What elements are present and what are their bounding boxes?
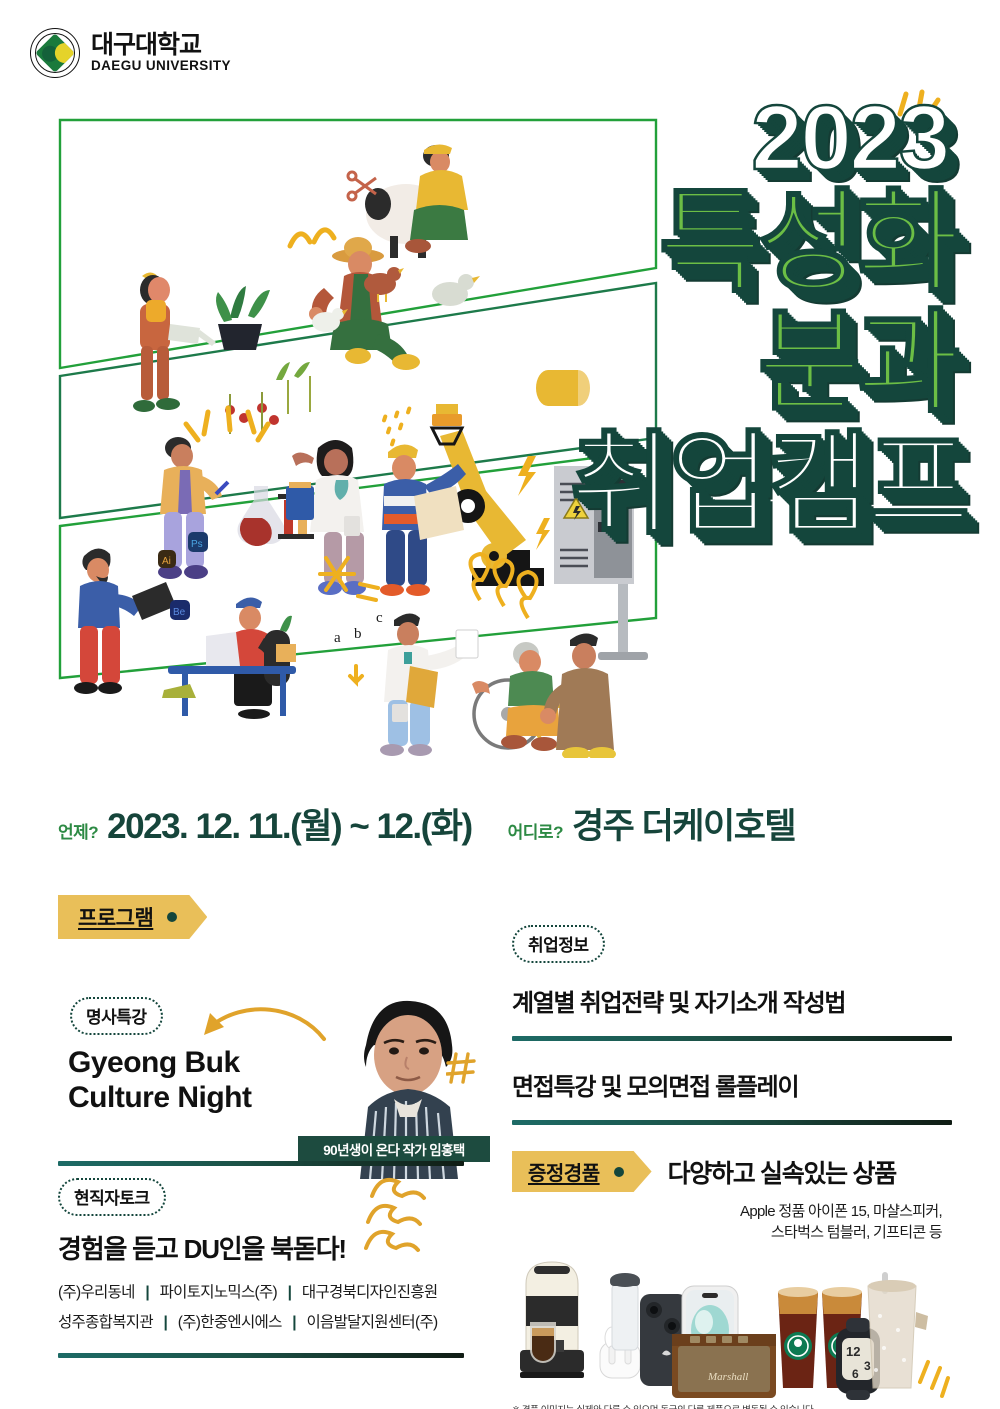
partner-5: (주)한중엔시에스 <box>178 1314 282 1331</box>
when-label: 언제? <box>58 818 98 843</box>
title-line-3: 취업캠프 <box>570 422 966 547</box>
daegu-seal-icon <box>30 28 80 78</box>
event-when-where: 언제? 2023. 12. 11.(월) ~ 12.(화) 어디로? 경주 더케… <box>58 798 958 849</box>
squiggle-icon <box>364 1170 440 1256</box>
partners-row-2: 성주종합복지관 | (주)한중엔시에스 | 이음발달지원센터(주) <box>58 1308 478 1338</box>
svg-text:a: a <box>334 630 341 646</box>
partner-sep: | <box>145 1284 149 1301</box>
prizes-tag: 증정경품 <box>512 1151 652 1192</box>
prizes-tag-label: 증정경품 <box>528 1157 600 1186</box>
where-value: 경주 더케이호텔 <box>572 798 795 849</box>
info-column: 취업정보 계열별 취업전략 및 자기소개 작성법 면접특강 및 모의면접 롤플레… <box>512 925 952 1409</box>
prize-tumbler <box>868 1272 928 1388</box>
illus-farmer-kneeling <box>309 237 420 370</box>
svg-text:c: c <box>376 610 383 626</box>
prize-images: Marshall <box>512 1250 952 1400</box>
hash-icon <box>446 1051 476 1085</box>
program-tag-label: 프로그램 <box>78 902 153 932</box>
prize-starbucks-drink-1 <box>778 1287 818 1388</box>
divider-talk <box>58 1353 464 1358</box>
jobinfo-item-2: 면접특강 및 모의면접 롤플레이 <box>512 1067 952 1102</box>
partner-sep: | <box>292 1314 296 1331</box>
title-line-1: 특성화 <box>659 180 956 305</box>
partners-row-1: (주)우리동네 | 파이토지노믹스(주) | 대구경북디자인진흥원 <box>58 1278 478 1308</box>
svg-text:6: 6 <box>852 1367 859 1381</box>
partner-sep: | <box>288 1284 292 1301</box>
university-logo: 대구대학교 DAEGU UNIVERSITY <box>30 28 231 78</box>
svg-text:Marshall: Marshall <box>707 1371 748 1383</box>
jobinfo-badge: 취업정보 <box>512 925 605 963</box>
talk-badge: 현직자토크 <box>58 1178 166 1216</box>
prizes-sub-line1: Apple 정품 아이폰 15, 마샬스피커, <box>512 1201 942 1222</box>
partner-3: 대구경북디자인진흥원 <box>302 1284 438 1301</box>
divider-jobinfo-2 <box>512 1120 952 1125</box>
illus-potted-plant <box>216 286 270 350</box>
partner-sep: | <box>164 1314 168 1331</box>
speaker-caption: 90년생이 온다 작가 임홍택 <box>298 1136 490 1162</box>
partner-2: 파이토지노믹스(주) <box>160 1284 277 1301</box>
keynote-title-line2: Culture Night <box>68 1080 251 1115</box>
svg-text:Be: Be <box>173 607 186 618</box>
program-tag: 프로그램 <box>58 895 207 939</box>
poster-root: 대구대학교 DAEGU UNIVERSITY <box>0 0 1000 1409</box>
prizes-note: ※ 경품 이미지는 실제와 다를 수 있으며 동급의 다른 제품으로 변동될 수… <box>512 1402 952 1409</box>
keynote-title-line1: Gyeong Buk <box>68 1045 251 1080</box>
svg-text:3: 3 <box>864 1359 871 1373</box>
program-column: 프로그램 명사특강 Gyeong Buk Culture Night <box>58 895 478 1358</box>
svg-text:Ai: Ai <box>162 556 171 567</box>
keynote-badge: 명사특강 <box>70 997 163 1035</box>
where-label: 어디로? <box>508 818 563 843</box>
logo-name-kr: 대구대학교 <box>91 32 231 58</box>
poster-title: 2023 특성화 분과 취업캠프 <box>436 96 956 541</box>
illus-sunburst <box>186 408 268 440</box>
svg-text:12: 12 <box>846 1344 860 1359</box>
partner-1: (주)우리동네 <box>58 1284 135 1301</box>
illus-dot-pattern <box>382 406 412 447</box>
svg-text:b: b <box>354 626 362 642</box>
partner-4: 성주종합복지관 <box>58 1314 153 1331</box>
partner-6: 이음발달지원센터(주) <box>307 1314 438 1331</box>
illus-doctor-woman <box>286 440 366 595</box>
illus-farmer-woman <box>133 272 216 412</box>
tag-dot-icon <box>614 1167 624 1177</box>
divider-jobinfo-1 <box>512 1036 952 1041</box>
svg-text:Ps: Ps <box>191 539 203 550</box>
title-line-2: 분과 <box>758 300 956 425</box>
prizes-headline: 다양하고 실속있는 상품 <box>668 1154 896 1190</box>
when-value: 2023. 12. 11.(월) ~ 12.(화) <box>107 798 471 849</box>
illus-doctor-walking <box>380 613 478 756</box>
prize-sparkle-icon <box>920 1362 948 1396</box>
illus-abc-letters: abc <box>334 610 383 646</box>
prize-bottle <box>610 1273 640 1350</box>
divider-keynote <box>58 1161 464 1166</box>
prize-marshall-speaker: Marshall <box>672 1334 776 1398</box>
tag-dot-icon <box>167 912 177 922</box>
jobinfo-item-1: 계열별 취업전략 및 자기소개 작성법 <box>512 983 952 1018</box>
logo-name-en: DAEGU UNIVERSITY <box>91 59 231 74</box>
prizes-sub-line2: 스타벅스 텀블러, 기프티콘 등 <box>512 1222 942 1243</box>
title-year: 2023 <box>751 87 948 189</box>
prize-coffee-machine <box>520 1262 584 1378</box>
